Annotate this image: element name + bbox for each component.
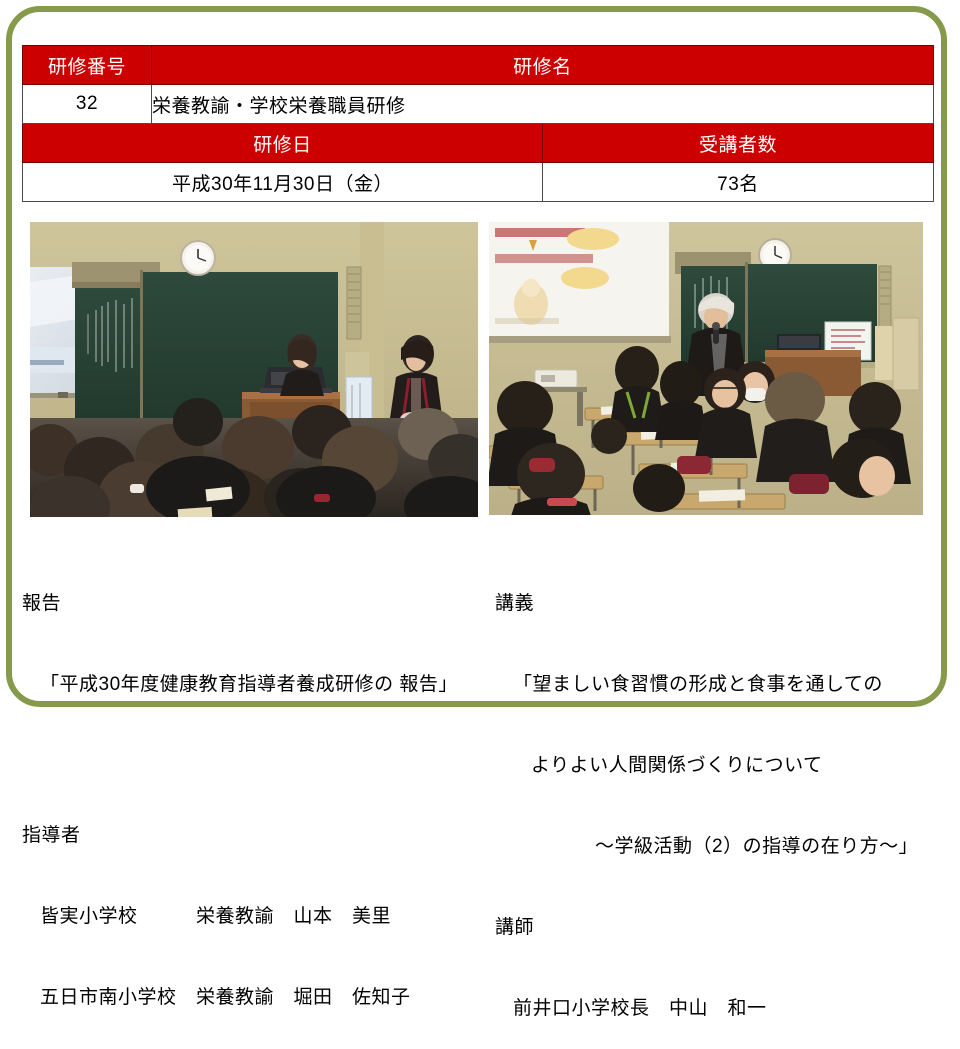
lecture-title-line-3: 〜学級活動（2）の指導の在り方〜」: [495, 833, 945, 860]
header-training-name: 研修名: [152, 46, 934, 85]
value-training-name: 栄養教諭・学校栄養職員研修: [152, 85, 934, 124]
report-label: 報告: [22, 590, 482, 617]
photo-right-graphic: [489, 222, 923, 515]
caption-right-block: 講義 「望ましい食習慣の形成と食事を通しての よりよい人間関係づくりについて 〜…: [495, 536, 945, 1049]
lecturer-label: 講師: [495, 914, 945, 941]
header-training-date: 研修日: [23, 124, 543, 163]
training-info-table: 研修番号 研修名 32 栄養教諭・学校栄養職員研修 研修日 受講者数 平成30年…: [22, 45, 934, 202]
table-row-values-2: 平成30年11月30日（金） 73名: [23, 163, 934, 202]
caption-spacer: [22, 752, 482, 768]
lecturer-entry-1: 前井口小学校長 中山 和一: [495, 995, 945, 1022]
table-row-header-1: 研修番号 研修名: [23, 46, 934, 85]
instructor-label: 指導者: [22, 822, 482, 849]
photo-report-session: [30, 222, 478, 517]
report-title: 「平成30年度健康教育指導者養成研修の 報告」: [22, 671, 482, 698]
photo-left-graphic: [30, 222, 478, 517]
value-training-number: 32: [23, 85, 152, 124]
photo-lecture-session: [489, 222, 923, 515]
lecture-title-line-2: よりよい人間関係づくりについて: [495, 752, 945, 779]
value-training-date: 平成30年11月30日（金）: [23, 163, 543, 202]
lecture-title-line-1: 「望ましい食習慣の形成と食事を通しての: [495, 671, 945, 698]
header-training-number: 研修番号: [23, 46, 152, 85]
instructor-entry-2: 五日市南小学校 栄養教諭 堀田 佐知子: [22, 984, 482, 1011]
instructor-entry-1: 皆実小学校 栄養教諭 山本 美里: [22, 903, 482, 930]
caption-left-block: 報告 「平成30年度健康教育指導者養成研修の 報告」 指導者 皆実小学校 栄養教…: [22, 536, 482, 1038]
value-participant-count: 73名: [543, 163, 934, 202]
header-participant-count: 受講者数: [543, 124, 934, 163]
table-row-values-1: 32 栄養教諭・学校栄養職員研修: [23, 85, 934, 124]
table-row-header-2: 研修日 受講者数: [23, 124, 934, 163]
lecture-label: 講義: [495, 590, 945, 617]
